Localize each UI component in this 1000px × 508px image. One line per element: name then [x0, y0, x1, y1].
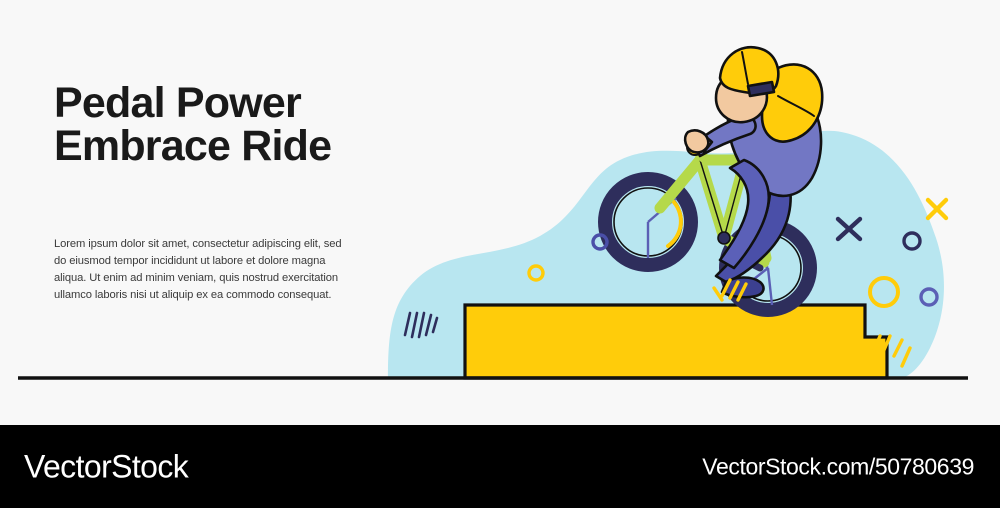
cyclist-goggles	[748, 82, 774, 96]
poster-canvas: Pedal Power Embrace Ride Lorem ipsum dol…	[0, 0, 1000, 508]
vectorstock-url: VectorStock.com/50780639	[702, 453, 974, 480]
hero-text-column: Pedal Power Embrace Ride	[54, 82, 384, 168]
watermark-footer: VectorStock VectorStock.com/50780639	[0, 425, 1000, 508]
hero-body-text: Lorem ipsum dolor sit amet, consectetur …	[54, 236, 354, 304]
page-title: Pedal Power Embrace Ride	[54, 82, 384, 168]
vectorstock-logo: VectorStock	[24, 448, 188, 485]
crank-hub	[718, 232, 730, 244]
yellow-steps-shape	[465, 305, 887, 378]
hero-illustration	[0, 0, 1000, 425]
cyclist-hand	[685, 130, 708, 152]
yellow-cross-icon	[928, 200, 946, 218]
